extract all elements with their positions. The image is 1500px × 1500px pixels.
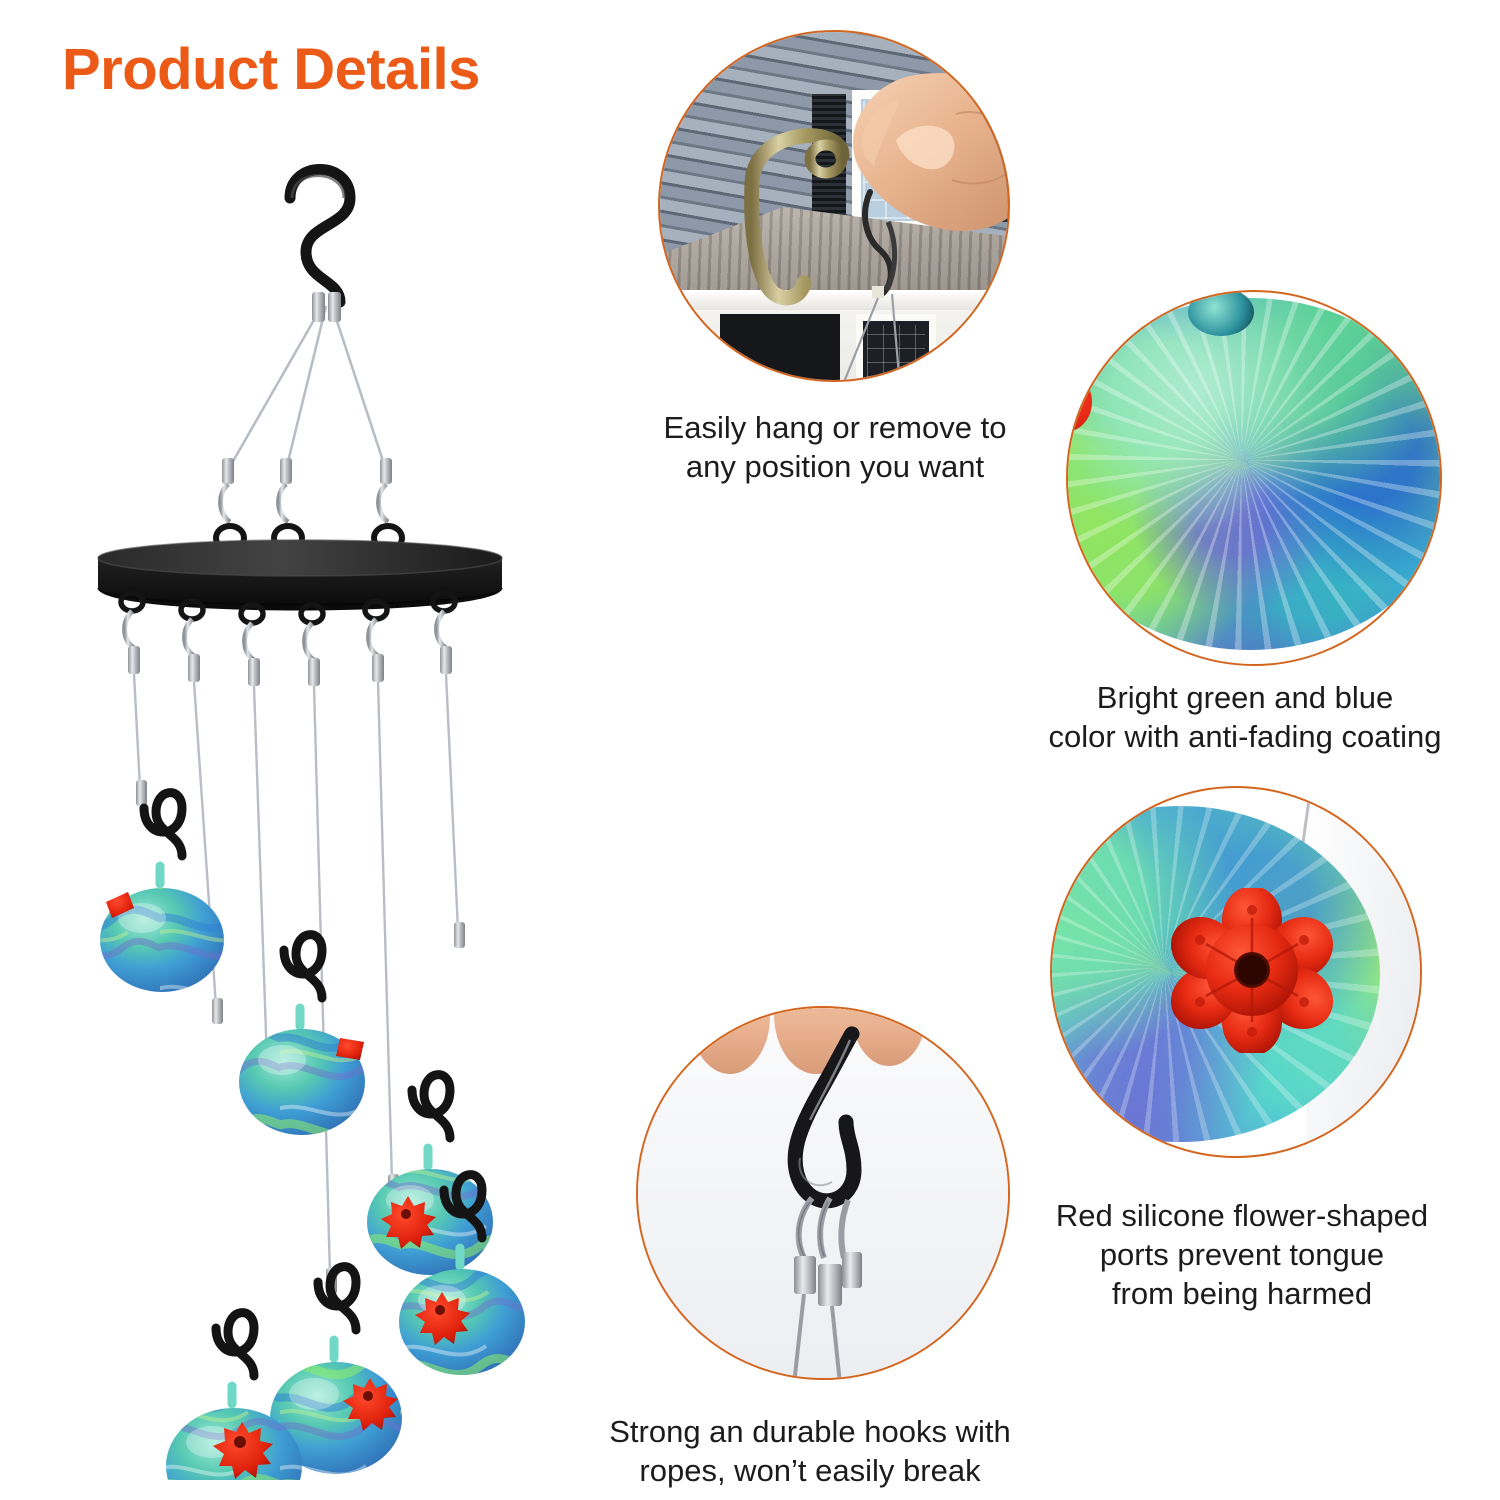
photo-hand-hanging-brass-hook: [658, 30, 1010, 382]
doorway: [720, 314, 840, 382]
product-details-page: Product Details: [0, 0, 1500, 1500]
page-title: Product Details: [62, 36, 480, 103]
caption-flower-port: Red silicone flower-shaped ports prevent…: [1000, 1196, 1484, 1313]
photo-black-s-hook-with-cables: [636, 1006, 1010, 1380]
feeder-ball-2: [239, 935, 365, 1135]
photo-red-flower-port-closeup: [1050, 786, 1422, 1158]
flower-port-icon: [1167, 888, 1337, 1053]
product-drop-clips: [125, 611, 446, 660]
photo-glass-ball-closeup: [1066, 290, 1442, 666]
glass-ball-surface: [1066, 298, 1442, 650]
product-upper-clips: [221, 484, 388, 522]
scene-house-exterior: [660, 32, 1008, 380]
product-suspension-cables: [228, 306, 386, 470]
scene-flower-port: [1052, 788, 1420, 1156]
caption-color: Bright green and blue color with anti-fa…: [1000, 678, 1490, 756]
feeder-ball-1: [100, 793, 224, 992]
caption-hook-hang: Easily hang or remove to any position yo…: [612, 408, 1058, 486]
product-hanger-disc: [98, 540, 502, 611]
glass-ball-neck: [1188, 290, 1254, 336]
feeder-cable-and-hook: [836, 182, 956, 382]
main-product-image: [40, 140, 560, 1480]
product-top-s-hook: [290, 170, 350, 303]
scene-s-hook: [638, 1008, 1008, 1378]
steel-cable-loops: [778, 1194, 888, 1380]
product-drop-ferrules: [128, 646, 452, 686]
caption-hooks-ropes: Strong an durable hooks with ropes, won’…: [536, 1412, 1084, 1490]
scene-glass-ball: [1068, 292, 1440, 664]
